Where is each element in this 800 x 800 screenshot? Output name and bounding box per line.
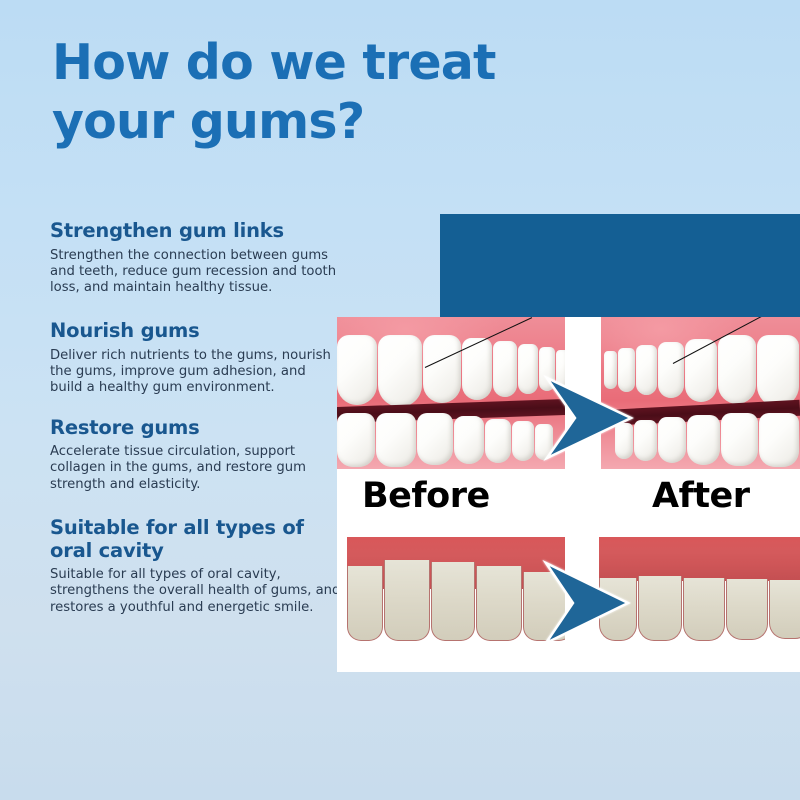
chevron-right-icon: [540, 558, 634, 648]
blue-banner-block: [440, 214, 800, 318]
after-label: After: [652, 476, 750, 516]
upper-teeth-row: [337, 335, 565, 407]
feature-body: Suitable for all types of oral cavity, s…: [50, 567, 342, 616]
feature-body: Accelerate tissue circulation, support c…: [50, 444, 342, 493]
feature-item-strengthen-gum-links: Strengthen gum links Strengthen the conn…: [50, 220, 342, 296]
lower-teeth-row: [347, 582, 565, 641]
feature-title: Suitable for all types of oral cavity: [50, 517, 342, 562]
headline-line-2: your gums?: [52, 93, 572, 152]
before-label: Before: [362, 476, 490, 516]
feature-body: Deliver rich nutrients to the gums, nour…: [50, 348, 342, 397]
chevron-right-icon: [541, 372, 637, 464]
feature-item-nourish-gums: Nourish gums Deliver rich nutrients to t…: [50, 320, 342, 396]
poster-canvas: How do we treat your gums? Strengthen gu…: [0, 0, 800, 800]
feature-list: Strengthen gum links Strengthen the conn…: [50, 220, 342, 633]
feature-title: Strengthen gum links: [50, 220, 342, 243]
comparison-labels-band: Before After: [337, 469, 800, 531]
gum-recession-before-photo: [347, 537, 565, 645]
lower-teeth-row: [337, 413, 565, 469]
feature-item-suitable-for-all-types: Suitable for all types of oral cavity Su…: [50, 517, 342, 616]
feature-body: Strengthen the connection between gums a…: [50, 248, 342, 297]
feature-title: Restore gums: [50, 417, 342, 440]
feature-title: Nourish gums: [50, 320, 342, 343]
headline-line-1: How do we treat: [52, 34, 496, 91]
page-title: How do we treat your gums?: [52, 34, 572, 152]
teeth-closed-bite-before-photo: [337, 317, 565, 469]
feature-item-restore-gums: Restore gums Accelerate tissue circulati…: [50, 417, 342, 493]
